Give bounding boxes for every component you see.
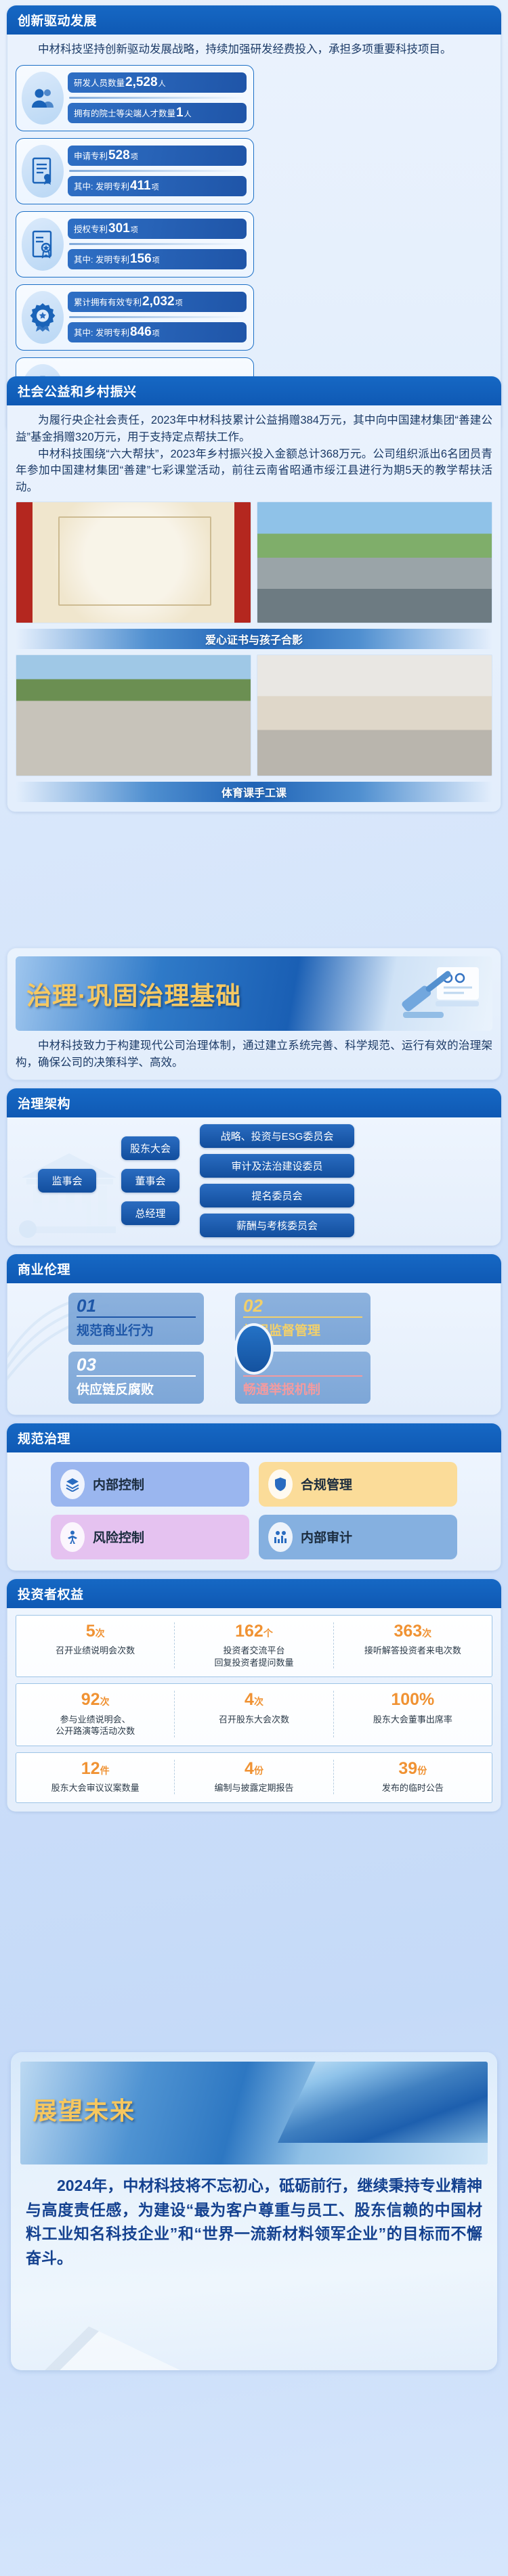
ethic-rule bbox=[243, 1375, 362, 1377]
stat-pill: 累计拥有有效专利2,032项 bbox=[68, 292, 247, 312]
norm-card-risk-control: 风险控制 bbox=[51, 1515, 249, 1559]
charity-caption-1: 爱心证书与孩子合影 bbox=[16, 629, 492, 649]
page-curl-decoration bbox=[11, 2289, 180, 2370]
norm-label: 内部控制 bbox=[93, 1475, 144, 1493]
investor-rights-body: 5次 召开业绩说明会次数 162个 投资者交流平台 回复投资者提问数量 363次… bbox=[7, 1608, 501, 1812]
investor-stat-label: 股东大会董事出席率 bbox=[373, 1714, 452, 1726]
stat-unit: 项 bbox=[152, 328, 160, 338]
ethic-rule bbox=[77, 1316, 196, 1318]
stat-lines: 授权专利301项 其中: 发明专利156项 bbox=[68, 219, 247, 269]
investor-stat-label: 编制与披露定期报告 bbox=[214, 1782, 293, 1794]
stat-lines: 研发人员数量2,528人 拥有的院士等尖端人才数量1人 bbox=[68, 72, 247, 123]
stat-pill: 授权专利301项 bbox=[68, 219, 247, 239]
investor-stat-cell: 162个 投资者交流平台 回复投资者提问数量 bbox=[174, 1622, 333, 1669]
stat-prefix: 其中: 发明专利 bbox=[74, 326, 129, 338]
ethic-rule bbox=[243, 1316, 362, 1318]
norm-label: 合规管理 bbox=[301, 1475, 352, 1493]
stat-unit: 项 bbox=[131, 151, 138, 162]
ethic-number: 01 bbox=[77, 1297, 196, 1314]
investor-stat-unit: 件 bbox=[100, 1765, 110, 1776]
stat-value: 2,032 bbox=[142, 294, 175, 309]
investor-stat-number: 100% bbox=[391, 1690, 434, 1709]
future-outlook-section: 展望未来 2024年，中材科技将不忘初心，砥砺前行，继续秉持专业精神与高度责任感… bbox=[11, 2052, 497, 2370]
ethic-number: 03 bbox=[77, 1356, 196, 1373]
stat-divider bbox=[69, 243, 245, 245]
investor-stat-cell: 5次 召开业绩说明会次数 bbox=[16, 1622, 174, 1669]
investor-stat-label: 召开业绩说明会次数 bbox=[56, 1645, 135, 1657]
org-chart: 监事会 股东大会 董事会 总经理 战略、投资与ESG委员会 审计及法治建设委员 … bbox=[16, 1124, 492, 1237]
stat-prefix: 授权专利 bbox=[74, 222, 108, 235]
investor-rights-title: 投资者权益 bbox=[7, 1579, 501, 1608]
stat-value: 1 bbox=[175, 106, 184, 120]
investor-stat-cell: 363次 接听解答投资者来电次数 bbox=[333, 1622, 492, 1669]
charity-photo-row-1 bbox=[16, 502, 492, 623]
innovation-section-body: 中材科技坚持创新驱动发展战略，持续加强研发经费投入，承担多项重要科技项目。 研发… bbox=[7, 35, 501, 434]
future-paragraph: 2024年，中材科技将不忘初心，砥砺前行，继续秉持专业精神与高度责任感，为建设“… bbox=[26, 2174, 482, 2271]
investor-stat-value: 12件 bbox=[81, 1760, 110, 1779]
charity-caption-2: 体育课手工课 bbox=[16, 782, 492, 802]
org-committees: 战略、投资与ESG委员会 审计及法治建设委员 提名委员会 薪酬与考核委员会 bbox=[200, 1124, 354, 1237]
investor-stat-unit: 次 bbox=[96, 1628, 105, 1639]
stat-prefix: 研发人员数量 bbox=[74, 76, 125, 89]
org-chain: 股东大会 董事会 总经理 bbox=[121, 1136, 179, 1225]
governance-section: 治理·巩固治理基础 中材科技致力于构建现代公司治理体制，通过建立系统完善、科学规… bbox=[7, 948, 501, 1812]
award-document-icon bbox=[22, 218, 64, 271]
investor-stat-value: 162个 bbox=[235, 1622, 273, 1641]
investor-stat-number: 92 bbox=[81, 1690, 100, 1709]
innovation-stat-grid: 研发人员数量2,528人 拥有的院士等尖端人才数量1人 bbox=[16, 65, 492, 424]
stat-card-granted-patents: 授权专利301项 其中: 发明专利156项 bbox=[16, 211, 254, 277]
investor-stat-unit: 次 bbox=[100, 1696, 110, 1707]
norm-card-internal-audit: 内部审计 bbox=[259, 1515, 457, 1559]
stat-value: 156 bbox=[129, 252, 152, 267]
stat-value: 301 bbox=[108, 221, 131, 236]
stat-lines: 累计拥有有效专利2,032项 其中: 发明专利846项 bbox=[68, 292, 247, 342]
ethics-grid: 01 规范商业行为 02 加强监督管理 03 供应链反腐败 04 bbox=[68, 1293, 492, 1404]
org-node-board: 董事会 bbox=[121, 1169, 179, 1193]
investor-stat-number: 4 bbox=[245, 1690, 254, 1709]
photo-volunteer-group bbox=[257, 502, 492, 623]
innovation-section: 创新驱动发展 中材科技坚持创新驱动发展战略，持续加强研发经费投入，承担多项重要科… bbox=[7, 5, 501, 434]
governance-intro-paragraph: 中材科技致力于构建现代公司治理体制，通过建立系统完善、科学规范、运行有效的治理架… bbox=[16, 1038, 492, 1071]
stat-value: 846 bbox=[129, 325, 152, 340]
investor-stat-cell: 4次 召开股东大会次数 bbox=[174, 1691, 333, 1737]
stat-pill: 研发人员数量2,528人 bbox=[68, 72, 247, 93]
stat-pill: 其中: 发明专利846项 bbox=[68, 322, 247, 342]
stat-unit: 人 bbox=[184, 108, 192, 119]
charity-photo-row-2 bbox=[16, 654, 492, 776]
investor-stat-label: 发布的临时公告 bbox=[382, 1782, 444, 1794]
investor-stat-label: 投资者交流平台 回复投资者提问数量 bbox=[214, 1645, 293, 1668]
investor-stat-value: 39份 bbox=[398, 1760, 427, 1779]
people-icon bbox=[22, 72, 64, 125]
investor-rights-panel: 投资者权益 5次 召开业绩说明会次数 162个 投资者交流平台 回复投资者提问数… bbox=[7, 1579, 501, 1812]
investor-stat-cell: 39份 发布的临时公告 bbox=[333, 1760, 492, 1794]
stat-pill: 申请专利528项 bbox=[68, 146, 247, 166]
business-ethics-title: 商业伦理 bbox=[7, 1254, 501, 1283]
org-node-shareholders: 股东大会 bbox=[121, 1136, 179, 1160]
stat-divider bbox=[69, 316, 245, 318]
stat-prefix: 累计拥有有效专利 bbox=[74, 295, 142, 308]
ethics-center-dot bbox=[234, 1323, 274, 1375]
photo-love-certificate bbox=[16, 502, 251, 623]
stat-unit: 人 bbox=[158, 78, 166, 89]
future-banner-title: 展望未来 bbox=[33, 2091, 135, 2127]
charity-paragraph-2: 中材科技围绕“六大帮扶”，2023年乡村振兴投入金额总计368万元。公司组织派出… bbox=[16, 446, 492, 496]
governance-intro-card: 治理·巩固治理基础 中材科技致力于构建现代公司治理体制，通过建立系统完善、科学规… bbox=[7, 948, 501, 1080]
stat-unit: 项 bbox=[152, 254, 160, 265]
governance-structure-panel: 治理架构 监事会 股东大会 董事会 总 bbox=[7, 1088, 501, 1246]
patent-certificate-icon bbox=[22, 145, 64, 198]
investor-stat-number: 4 bbox=[245, 1759, 254, 1778]
governance-structure-body: 监事会 股东大会 董事会 总经理 战略、投资与ESG委员会 审计及法治建设委员 … bbox=[7, 1117, 501, 1246]
investor-stat-value: 4次 bbox=[245, 1691, 263, 1710]
investor-stat-label: 召开股东大会次数 bbox=[219, 1714, 289, 1726]
governance-banner: 治理·巩固治理基础 bbox=[16, 956, 492, 1031]
stat-card-applied-patents: 申请专利528项 其中: 发明专利411项 bbox=[16, 138, 254, 204]
norms-panel: 规范治理 内部控制 合规管理 bbox=[7, 1423, 501, 1571]
governance-structure-title: 治理架构 bbox=[7, 1088, 501, 1117]
stat-value: 411 bbox=[129, 179, 152, 194]
investor-stat-unit: 次 bbox=[254, 1696, 263, 1707]
stat-prefix: 其中: 发明专利 bbox=[74, 179, 129, 192]
stat-pill: 拥有的院士等尖端人才数量1人 bbox=[68, 103, 247, 123]
org-committee-strategy: 战略、投资与ESG委员会 bbox=[200, 1124, 354, 1148]
norm-label: 风险控制 bbox=[93, 1528, 144, 1546]
investor-stat-number: 162 bbox=[235, 1622, 263, 1641]
ethic-card-01: 01 规范商业行为 bbox=[68, 1293, 204, 1345]
stat-unit: 项 bbox=[131, 224, 138, 235]
norm-card-compliance: 合规管理 bbox=[259, 1462, 457, 1507]
norm-card-internal-control: 内部控制 bbox=[51, 1462, 249, 1507]
investor-stat-unit: 次 bbox=[422, 1628, 431, 1639]
investor-stat-row: 92次 参与业绩说明会、 公开路演等活动次数 4次 召开股东大会次数 100% … bbox=[16, 1683, 492, 1746]
investor-stat-cell: 12件 股东大会审议议案数量 bbox=[16, 1760, 174, 1794]
investor-stat-row: 5次 召开业绩说明会次数 162个 投资者交流平台 回复投资者提问数量 363次… bbox=[16, 1615, 492, 1678]
investor-stat-unit: 份 bbox=[417, 1765, 427, 1776]
stat-unit: 项 bbox=[152, 181, 159, 192]
charity-paragraph-1: 为履行央企社会责任，2023年中材科技累计公益捐赠384万元，其中向中国建材集团… bbox=[16, 412, 492, 446]
investor-stat-value: 92次 bbox=[81, 1691, 110, 1710]
investor-stat-number: 12 bbox=[81, 1759, 100, 1778]
stat-pill: 其中: 发明专利411项 bbox=[68, 176, 247, 196]
stat-prefix: 拥有的院士等尖端人才数量 bbox=[74, 106, 175, 119]
future-banner: 展望未来 bbox=[20, 2062, 488, 2164]
investor-stat-number: 5 bbox=[86, 1622, 96, 1641]
stat-divider bbox=[69, 170, 245, 172]
business-ethics-body: 01 规范商业行为 02 加强监督管理 03 供应链反腐败 04 bbox=[7, 1283, 501, 1415]
investor-stat-label: 接听解答投资者来电次数 bbox=[364, 1645, 461, 1657]
audit-chart-icon bbox=[268, 1522, 293, 1552]
stat-prefix: 其中: 发明专利 bbox=[74, 252, 129, 265]
investor-stat-value: 4份 bbox=[245, 1760, 263, 1779]
org-node-supervisor: 监事会 bbox=[38, 1169, 96, 1193]
stat-value: 2,528 bbox=[125, 75, 158, 90]
norms-grid: 内部控制 合规管理 风险控制 bbox=[16, 1462, 492, 1559]
investor-stat-number: 39 bbox=[398, 1759, 417, 1778]
skyscraper-photo bbox=[278, 2062, 488, 2143]
layers-control-icon bbox=[60, 1469, 85, 1499]
photo-craft-class bbox=[257, 654, 492, 776]
governance-banner-title: 治理·巩固治理基础 bbox=[26, 975, 241, 1012]
stat-divider bbox=[69, 97, 245, 99]
stat-card-rd-people: 研发人员数量2,528人 拥有的院士等尖端人才数量1人 bbox=[16, 65, 254, 131]
innovation-section-title: 创新驱动发展 bbox=[7, 5, 501, 35]
investor-stat-value: 5次 bbox=[86, 1622, 105, 1641]
stat-unit: 项 bbox=[175, 297, 183, 308]
org-committee-audit: 审计及法治建设委员 bbox=[200, 1154, 354, 1178]
risk-person-icon bbox=[60, 1522, 85, 1552]
org-committee-remuneration: 薪酬与考核委员会 bbox=[200, 1214, 354, 1237]
ethic-number: 02 bbox=[243, 1297, 362, 1314]
business-ethics-panel: 商业伦理 01 规范商业行为 02 加强监督管理 bbox=[7, 1254, 501, 1415]
stat-prefix: 申请专利 bbox=[74, 149, 108, 162]
innovation-paragraph: 中材科技坚持创新驱动发展战略，持续加强研发经费投入，承担多项重要科技项目。 bbox=[16, 41, 492, 58]
ethic-label: 规范商业行为 bbox=[77, 1320, 196, 1339]
stat-card-valid-patents: 累计拥有有效专利2,032项 其中: 发明专利846项 bbox=[16, 284, 254, 351]
investor-stat-cell: 92次 参与业绩说明会、 公开路演等活动次数 bbox=[16, 1691, 174, 1737]
investor-stat-number: 363 bbox=[394, 1622, 422, 1641]
medal-icon bbox=[22, 291, 64, 344]
investor-stat-unit: 个 bbox=[263, 1628, 273, 1639]
investor-stat-cell: 4份 编制与披露定期报告 bbox=[174, 1760, 333, 1794]
ethic-label: 供应链反腐败 bbox=[77, 1379, 196, 1398]
org-committee-nomination: 提名委员会 bbox=[200, 1184, 354, 1207]
ethic-card-03: 03 供应链反腐败 bbox=[68, 1352, 204, 1404]
investor-stat-label: 参与业绩说明会、 公开路演等活动次数 bbox=[56, 1714, 135, 1737]
investor-stat-value: 100% bbox=[391, 1691, 434, 1710]
stat-pill: 其中: 发明专利156项 bbox=[68, 249, 247, 269]
norms-body: 内部控制 合规管理 风险控制 bbox=[7, 1452, 501, 1571]
gavel-monitor-icon bbox=[388, 963, 483, 1025]
stat-lines: 申请专利528项 其中: 发明专利411项 bbox=[68, 146, 247, 196]
investor-stat-value: 363次 bbox=[394, 1622, 431, 1641]
ethic-label: 畅通举报机制 bbox=[243, 1379, 362, 1398]
investor-stat-unit: 份 bbox=[254, 1765, 263, 1776]
charity-section: 社会公益和乡村振兴 为履行央企社会责任，2023年中材科技累计公益捐赠384万元… bbox=[7, 376, 501, 812]
org-node-gm: 总经理 bbox=[121, 1201, 179, 1225]
ethic-rule bbox=[77, 1375, 196, 1377]
investor-stat-cell: 100% 股东大会董事出席率 bbox=[333, 1691, 492, 1737]
charity-section-title: 社会公益和乡村振兴 bbox=[7, 376, 501, 405]
norms-title: 规范治理 bbox=[7, 1423, 501, 1452]
investor-stat-label: 股东大会审议议案数量 bbox=[51, 1782, 140, 1794]
stat-value: 528 bbox=[108, 148, 131, 163]
charity-section-body: 为履行央企社会责任，2023年中材科技累计公益捐赠384万元，其中向中国建材集团… bbox=[7, 405, 501, 812]
photo-sports-class bbox=[16, 654, 251, 776]
investor-stat-row: 12件 股东大会审议议案数量 4份 编制与披露定期报告 39份 发布的临时公告 bbox=[16, 1752, 492, 1803]
shield-compliance-icon bbox=[268, 1469, 293, 1499]
org-supervisor-slot: 监事会 bbox=[16, 1169, 119, 1193]
norm-label: 内部审计 bbox=[301, 1528, 352, 1546]
